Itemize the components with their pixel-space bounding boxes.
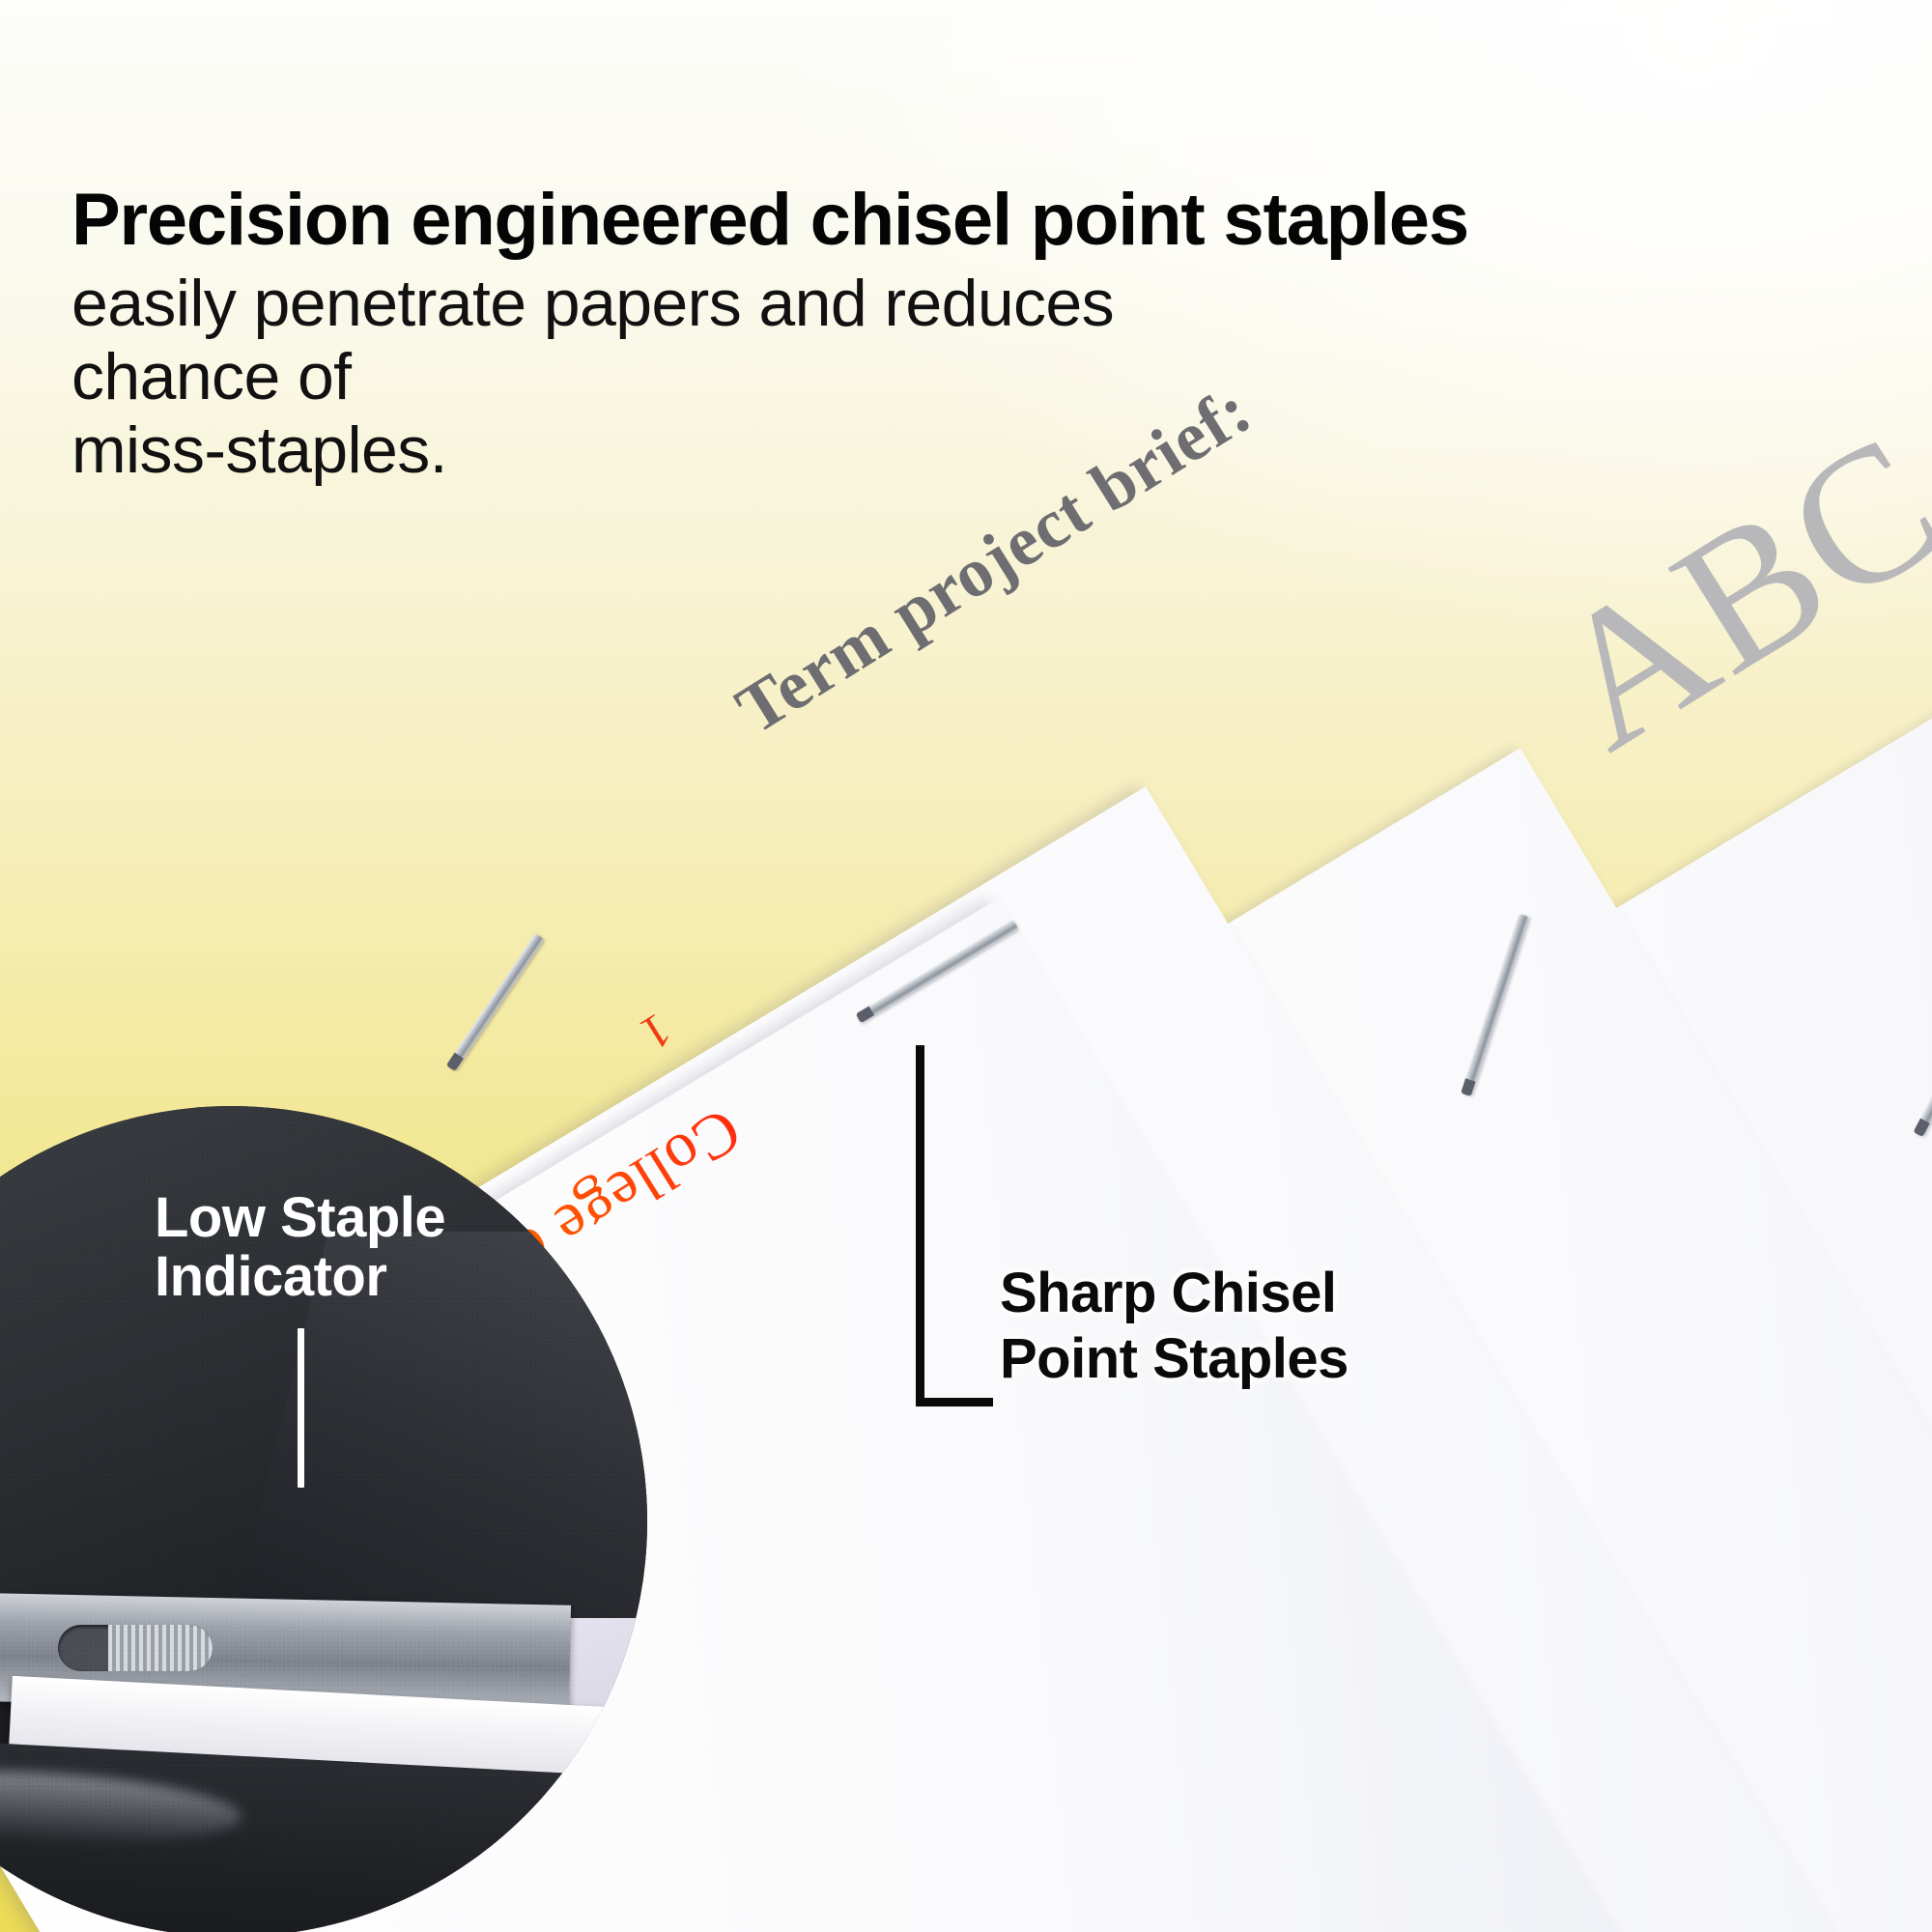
callout-low-staple-indicator: Low Staple Indicator	[155, 1188, 560, 1307]
headline-title: Precision engineered chisel point staple…	[71, 184, 1830, 257]
callout-sharp-chisel-line-1: Sharp Chisel	[1000, 1261, 1541, 1326]
product-feature-banner: ABC Term project brief: College of Desig…	[0, 0, 1932, 1932]
callout-sharp-leader-vertical	[916, 1045, 924, 1406]
staple-icon-1	[446, 933, 544, 1071]
callout-low-staple-line-2: Indicator	[155, 1247, 560, 1306]
headline-subtitle-line-1: easily penetrate papers and reduces chan…	[71, 267, 1308, 413]
callout-low-staple-line-1: Low Staple	[155, 1188, 560, 1247]
headline-subtitle-line-2: miss-staples.	[71, 413, 1308, 487]
callout-sharp-chisel-line-2: Point Staples	[1000, 1326, 1541, 1392]
headline-block: Precision engineered chisel point staple…	[71, 184, 1830, 487]
callout-low-staple-leader-line	[298, 1328, 304, 1488]
printed-page-number: 1	[631, 1002, 681, 1062]
callout-sharp-leader-horizontal	[916, 1398, 993, 1406]
callout-sharp-chisel-point-staples: Sharp Chisel Point Staples	[1000, 1261, 1541, 1393]
